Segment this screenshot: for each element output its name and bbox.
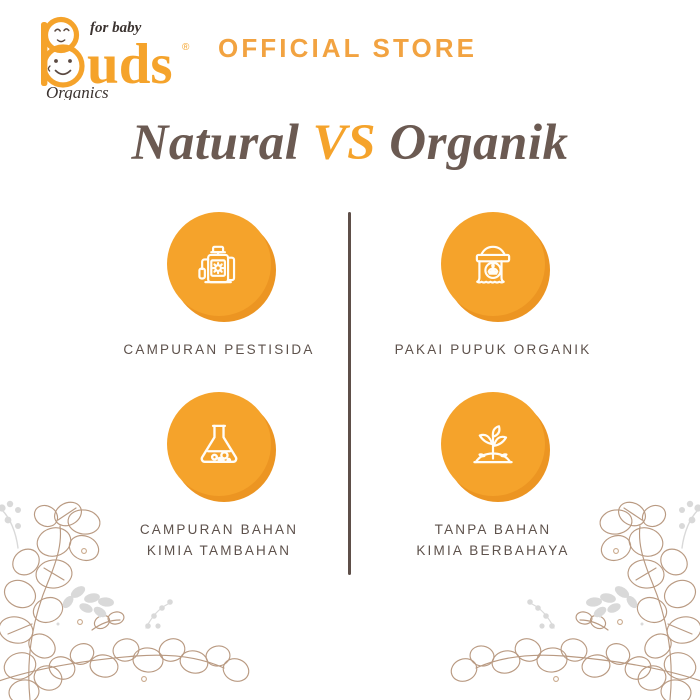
svg-text:®: ® xyxy=(182,42,190,53)
fertilizer-sack-icon xyxy=(464,235,522,293)
feature-tanpa-bahan-kimia: TANPA BAHAN KIMIA BERBAHAYA xyxy=(343,392,643,562)
title-part-organik: Organik xyxy=(376,115,568,171)
buds-organics-logo: uds ® for baby Organics xyxy=(30,8,210,100)
icon-circle-pesticide xyxy=(167,212,271,316)
page-title: Natural VS Organik xyxy=(0,114,700,172)
feature-label-campuran-bahan-kimia: CAMPURAN BAHAN KIMIA TAMBAHAN xyxy=(69,520,369,562)
sprout-plant-icon xyxy=(464,415,522,473)
feature-campuran-bahan-kimia: CAMPURAN BAHAN KIMIA TAMBAHAN xyxy=(69,392,369,562)
feature-pakai-pupuk-organik: PAKAI PUPUK ORGANIK xyxy=(343,212,643,361)
icon-circle-flask xyxy=(167,392,271,496)
svg-text:Organics: Organics xyxy=(46,83,109,100)
feature-campuran-pestisida: CAMPURAN PESTISIDA xyxy=(69,212,369,361)
icon-circle-fertilizer xyxy=(441,212,545,316)
feature-label-pakai-pupuk-organik: PAKAI PUPUK ORGANIK xyxy=(343,340,643,361)
icon-circle-sprout xyxy=(441,392,545,496)
logo-artwork: uds ® for baby Organics xyxy=(30,8,210,100)
title-vs: VS xyxy=(313,115,376,171)
header: uds ® for baby Organics OFFICIAL STORE xyxy=(0,0,700,105)
feature-label-tanpa-bahan-kimia: TANPA BAHAN KIMIA BERBAHAYA xyxy=(343,520,643,562)
pesticide-sprayer-icon xyxy=(190,235,248,293)
chemical-flask-icon xyxy=(190,415,248,473)
title-part-natural: Natural xyxy=(132,115,313,171)
svg-text:for baby: for baby xyxy=(90,20,142,36)
promo-banner: uds ® for baby Organics OFFICIAL STORE N… xyxy=(0,0,700,700)
official-store-badge: OFFICIAL STORE xyxy=(218,33,477,64)
feature-label-campuran-pestisida: CAMPURAN PESTISIDA xyxy=(69,340,369,361)
